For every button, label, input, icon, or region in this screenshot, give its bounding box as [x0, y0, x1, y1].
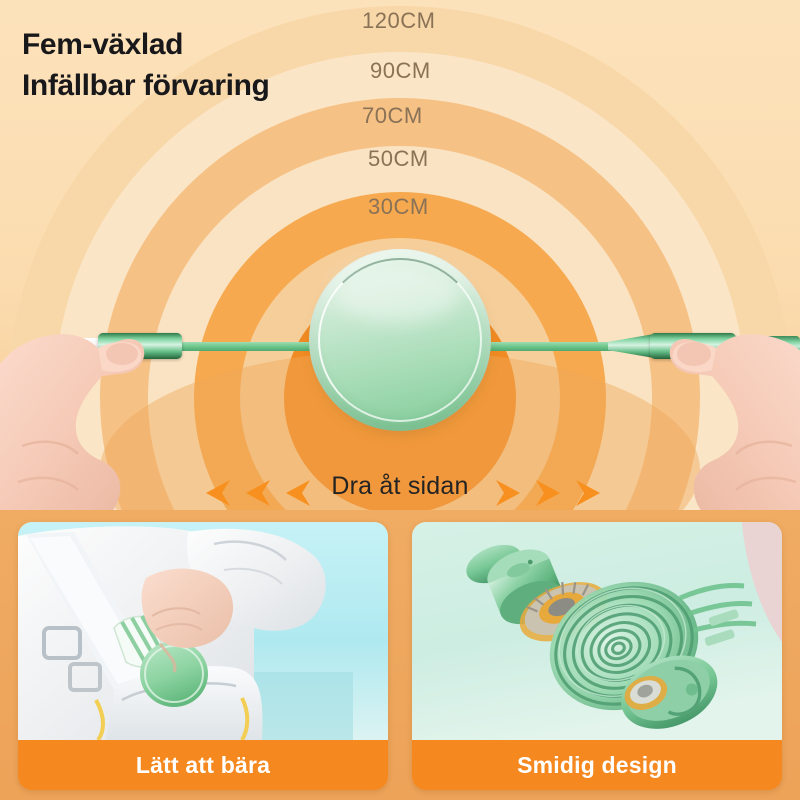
right-thumbnail [677, 342, 711, 366]
feature-panel-carry[interactable]: Lätt att bära [18, 522, 388, 790]
distance-label-90: 90CM [370, 58, 431, 84]
headline-line-2: Infällbar förvaring [22, 65, 269, 106]
distance-label-70: 70CM [362, 103, 423, 129]
headline-line-1: Fem-växlad [22, 24, 269, 65]
feature-panel-design[interactable]: Smidig design [412, 522, 782, 790]
chevrons-right-icon [478, 476, 610, 510]
carry-product-disc [140, 641, 208, 707]
hero-section: Fem-växlad Infällbar förvaring 120CM 90C… [0, 0, 800, 522]
product-marketing-image: Fem-växlad Infällbar förvaring 120CM 90C… [0, 0, 800, 800]
pull-instruction-label: Dra åt sidan [0, 472, 800, 501]
page-title: Fem-växlad Infällbar förvaring [22, 24, 269, 107]
design-photo [412, 522, 782, 740]
pull-instruction-row: Dra åt sidan [0, 470, 800, 514]
distance-label-50: 50CM [368, 146, 429, 172]
disc-highlight [333, 261, 461, 323]
panel-caption-carry: Lätt att bära [18, 740, 388, 790]
feature-panels-section: Lätt att bära [0, 510, 800, 800]
distance-label-30: 30CM [368, 194, 429, 220]
distance-label-120: 120CM [362, 8, 435, 34]
carry-photo [18, 522, 388, 740]
retractable-cable-disc [309, 249, 491, 431]
left-thumbnail [106, 343, 138, 365]
panel-caption-design: Smidig design [412, 740, 782, 790]
